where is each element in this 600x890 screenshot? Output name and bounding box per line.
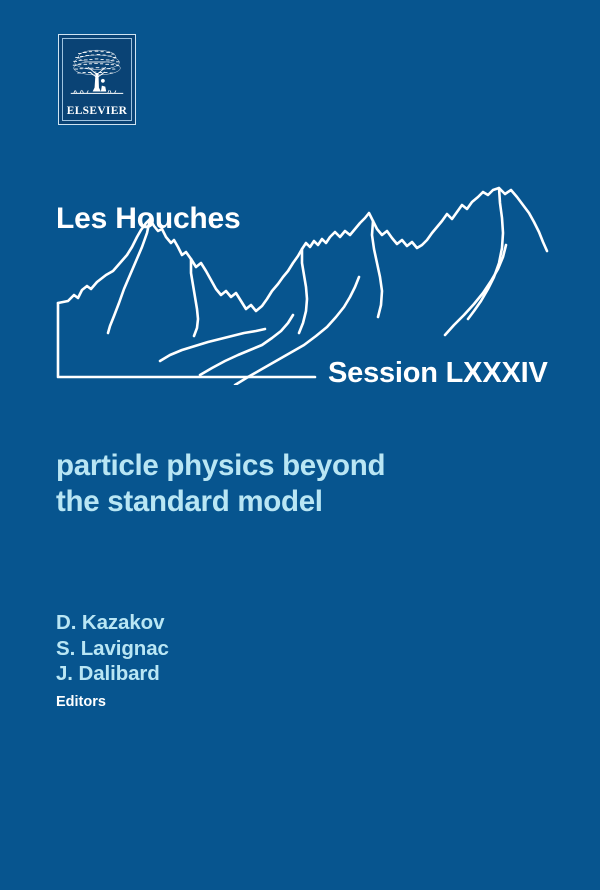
editors-role-label: Editors [56, 694, 106, 710]
elsevier-logo: ELSEVIER [58, 34, 136, 125]
book-cover: ELSEVIER Les Houches [0, 0, 600, 890]
editor-name: S. Lavignac [56, 636, 169, 662]
book-title-line-2: the standard model [56, 484, 385, 520]
page-title: particle physics beyond the standard mod… [56, 448, 385, 520]
editor-name: D. Kazakov [56, 610, 169, 636]
editor-list: D. Kazakov S. Lavignac J. Dalibard [56, 610, 169, 687]
mountain-range-line-art [50, 185, 550, 385]
elsevier-logo-frame: ELSEVIER [62, 38, 132, 121]
session-label: Session LXXXIV [328, 357, 548, 390]
editor-name: J. Dalibard [56, 661, 169, 687]
book-title-line-1: particle physics beyond [56, 448, 385, 484]
tree-of-knowledge-icon [63, 40, 131, 106]
elsevier-wordmark: ELSEVIER [63, 105, 131, 117]
